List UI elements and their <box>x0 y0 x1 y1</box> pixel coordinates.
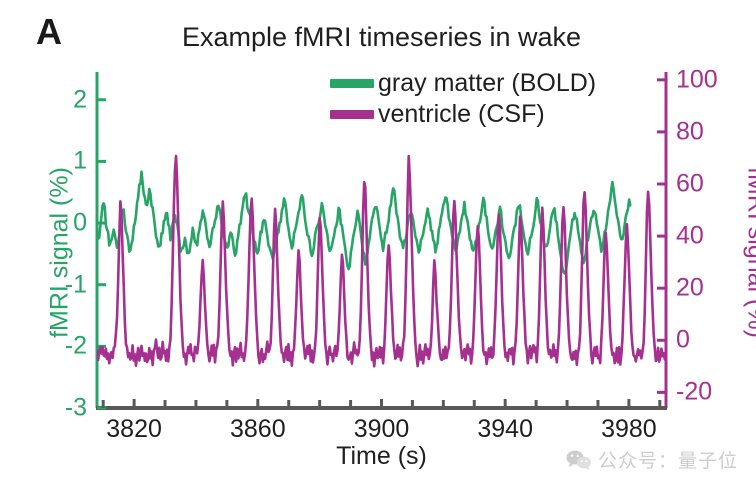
right-axis-tick-label: 100 <box>676 67 750 92</box>
right-axis-tick-label: 60 <box>676 172 750 197</box>
figure-panel: A Example fMRI timeseries in wake gray m… <box>0 0 756 486</box>
watermark-text: 公众号：量子位 <box>598 446 738 473</box>
right-axis-tick-label: 20 <box>676 276 750 301</box>
left-axis-tick-label: 0 <box>21 211 87 236</box>
right-axis-tick-label: 40 <box>676 224 750 249</box>
wechat-icon <box>566 449 592 471</box>
left-axis-tick-label: -2 <box>21 334 87 359</box>
left-axis-tick-label: 2 <box>21 87 87 112</box>
x-axis-tick-label: 3940 <box>477 417 533 442</box>
x-axis-tick-label: 3820 <box>106 417 162 442</box>
x-axis-tick-label: 3860 <box>230 417 286 442</box>
left-axis-tick-label: 1 <box>21 149 87 174</box>
right-axis-tick-label: 80 <box>676 119 750 144</box>
watermark: 公众号：量子位 <box>566 446 738 473</box>
series-line-ventricle <box>97 156 667 366</box>
left-axis-tick-label: -1 <box>21 272 87 297</box>
right-axis-tick-label: 0 <box>676 328 750 353</box>
x-axis-tick-label: 3900 <box>354 417 410 442</box>
plot-area <box>0 0 756 486</box>
right-axis-tick-label: -20 <box>676 380 750 405</box>
left-axis-tick-label: -3 <box>21 396 87 421</box>
x-axis-tick-label: 3980 <box>601 417 657 442</box>
